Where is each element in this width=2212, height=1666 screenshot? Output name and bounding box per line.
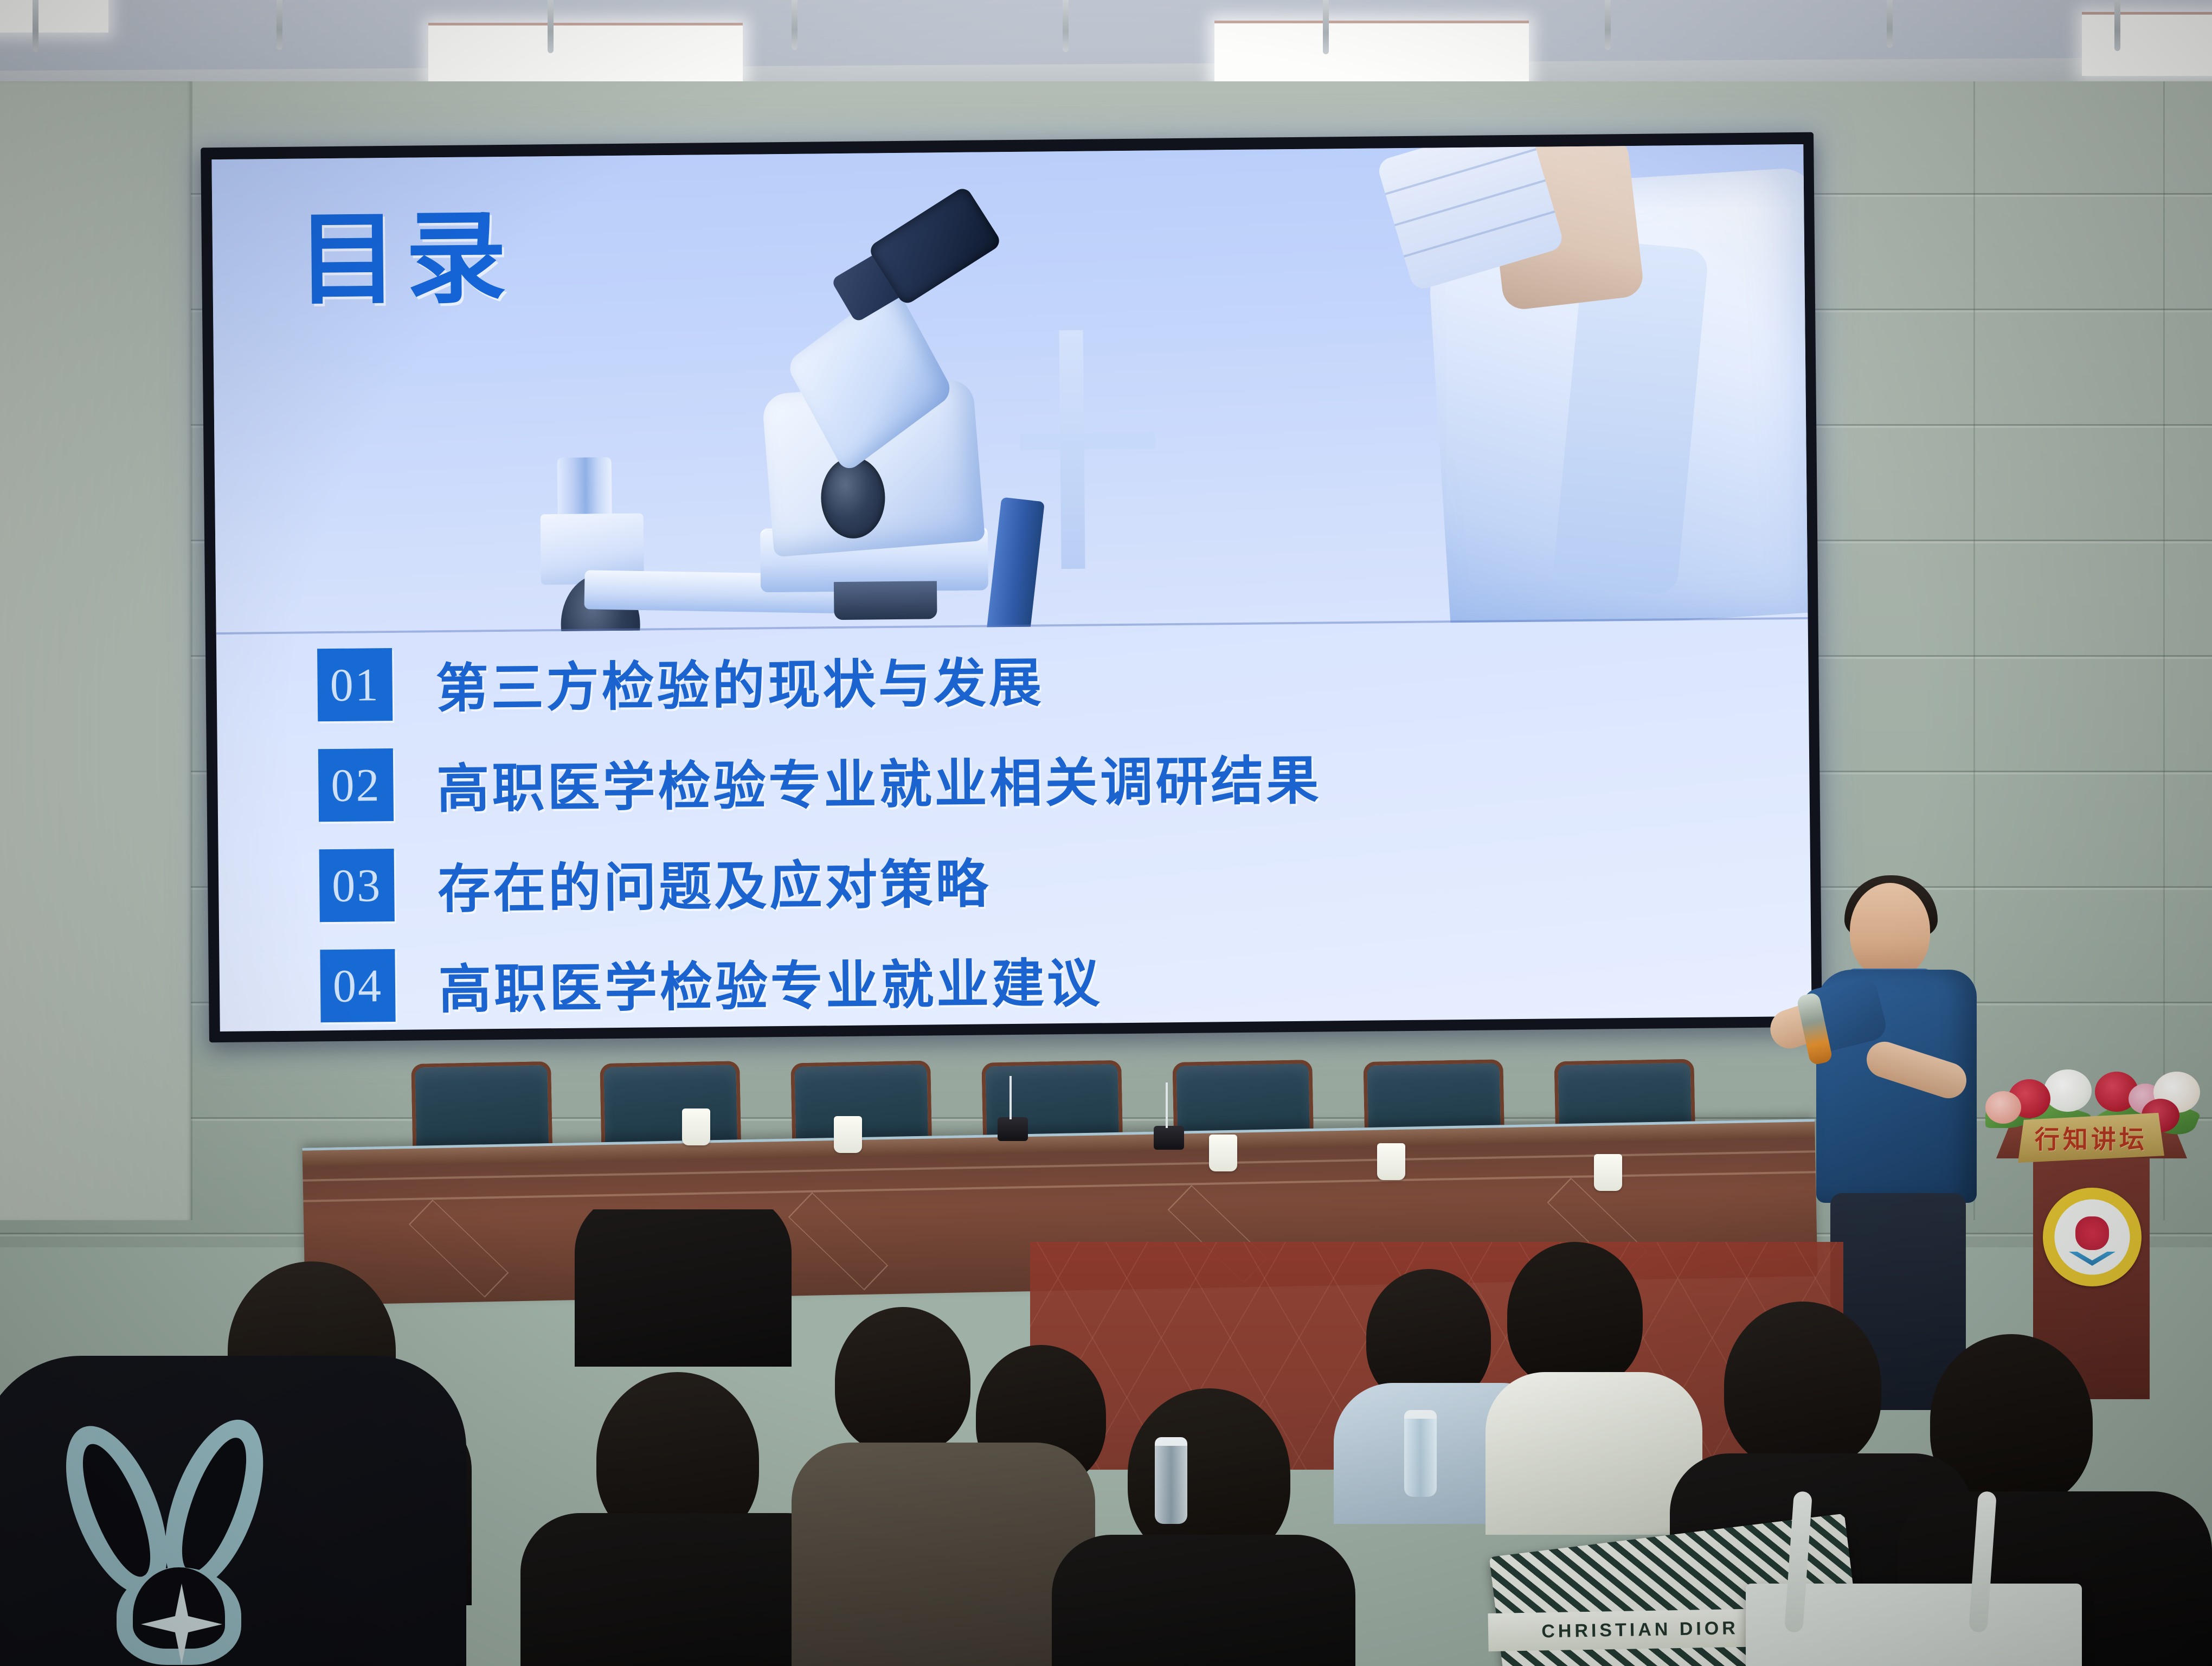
ceiling-spotlight-rod bbox=[1323, 0, 1329, 54]
lab-blue-tube bbox=[981, 497, 1045, 635]
flower-white bbox=[2044, 1069, 2092, 1112]
ceiling-spotlight-rod bbox=[276, 0, 282, 50]
audience-area: CHRISTIAN DIOR bbox=[0, 1209, 2212, 1666]
water-bottle bbox=[1155, 1437, 1187, 1524]
toc-item-label: 高职医学检验专业就业建议 bbox=[438, 940, 1102, 1023]
audience-shoulders bbox=[1052, 1535, 1355, 1666]
paper-cup bbox=[834, 1116, 862, 1153]
audience-head bbox=[835, 1307, 970, 1453]
ceiling-panel-light bbox=[0, 0, 108, 33]
toc-item-label: 高职医学检验专业就业相关调研结果 bbox=[436, 738, 1322, 823]
toc-number-badge: 02 bbox=[318, 748, 394, 821]
ceiling-spotlight-rod bbox=[1063, 0, 1069, 52]
microscope-objective bbox=[834, 581, 937, 620]
water-bottle bbox=[1404, 1410, 1437, 1497]
ceiling-spotlight-rod bbox=[1605, 0, 1611, 50]
paper-cup bbox=[1377, 1143, 1405, 1180]
presenter-head bbox=[1850, 883, 1930, 978]
lecture-hall-scene: 目录 01 第三方检验的现状与发展 02 高职医学检验专业就业相关调研结果 03… bbox=[0, 0, 2212, 1666]
audience-shoulders bbox=[792, 1443, 1095, 1666]
toc-item[interactable]: 03 存在的问题及应对策略 bbox=[319, 834, 1751, 924]
ceiling-panel-light bbox=[428, 23, 743, 84]
desk-microphone bbox=[998, 1117, 1028, 1141]
ceiling-spotlight-rod bbox=[792, 0, 798, 50]
toc-item-label: 第三方检验的现状与发展 bbox=[435, 639, 1044, 722]
paper-cup bbox=[1209, 1135, 1237, 1171]
audience-hoodie bbox=[0, 1356, 466, 1666]
paper-cup bbox=[682, 1108, 710, 1145]
paper-cup bbox=[1594, 1154, 1622, 1191]
photo-background-bar bbox=[1020, 432, 1155, 450]
slide-title: 目录 bbox=[297, 208, 515, 311]
microscope-illuminator bbox=[557, 457, 612, 523]
desk-microphone bbox=[1154, 1126, 1184, 1150]
ceiling-spotlight-rod bbox=[33, 0, 38, 52]
toc-item-label: 存在的问题及应对策略 bbox=[438, 841, 991, 922]
microphone-stem bbox=[1166, 1082, 1168, 1128]
wall-left-column bbox=[0, 81, 191, 1220]
toc-number-badge: 03 bbox=[319, 848, 395, 921]
microscope-focus-knob bbox=[821, 457, 885, 539]
ceiling-panel-light bbox=[1214, 21, 1529, 85]
audience-photographer-with-camera bbox=[564, 1209, 792, 1361]
ceiling-spotlight-rod bbox=[1887, 0, 1893, 48]
toc-item[interactable]: 01 第三方检验的现状与发展 bbox=[317, 633, 1749, 723]
ceiling-spotlight-rod bbox=[2114, 0, 2120, 51]
audience-head bbox=[1724, 1302, 1881, 1470]
microphone-stem bbox=[1009, 1076, 1012, 1119]
projected-slide[interactable]: 目录 01 第三方检验的现状与发展 02 高职医学检验专业就业相关调研结果 03… bbox=[211, 144, 1811, 1031]
flower-pink bbox=[1985, 1091, 2021, 1124]
toc-item[interactable]: 04 高职医学检验专业就业建议 bbox=[320, 934, 1752, 1024]
bunny-and-star-graphic bbox=[60, 1421, 293, 1654]
toc-item[interactable]: 02 高职医学检验专业就业相关调研结果 bbox=[318, 733, 1750, 823]
audience-head bbox=[1507, 1242, 1643, 1388]
slide-toc-list: 01 第三方检验的现状与发展 02 高职医学检验专业就业相关调研结果 03 存在… bbox=[317, 633, 1752, 1031]
photographer-shoulders bbox=[575, 1209, 792, 1367]
ceiling bbox=[0, 0, 2212, 91]
projection-screen-bezel: 目录 01 第三方检验的现状与发展 02 高职医学检验专业就业相关调研结果 03… bbox=[201, 132, 1822, 1042]
toc-number-badge: 04 bbox=[320, 949, 395, 1022]
wall-seam bbox=[191, 81, 192, 1220]
canvas-tote-bag bbox=[1746, 1584, 2082, 1666]
ceiling-spotlight-rod bbox=[548, 0, 554, 53]
toc-number-badge: 01 bbox=[317, 648, 393, 721]
podium-plaque: 行知讲坛 bbox=[2018, 1113, 2164, 1163]
ceiling-panel-light bbox=[2082, 12, 2212, 76]
